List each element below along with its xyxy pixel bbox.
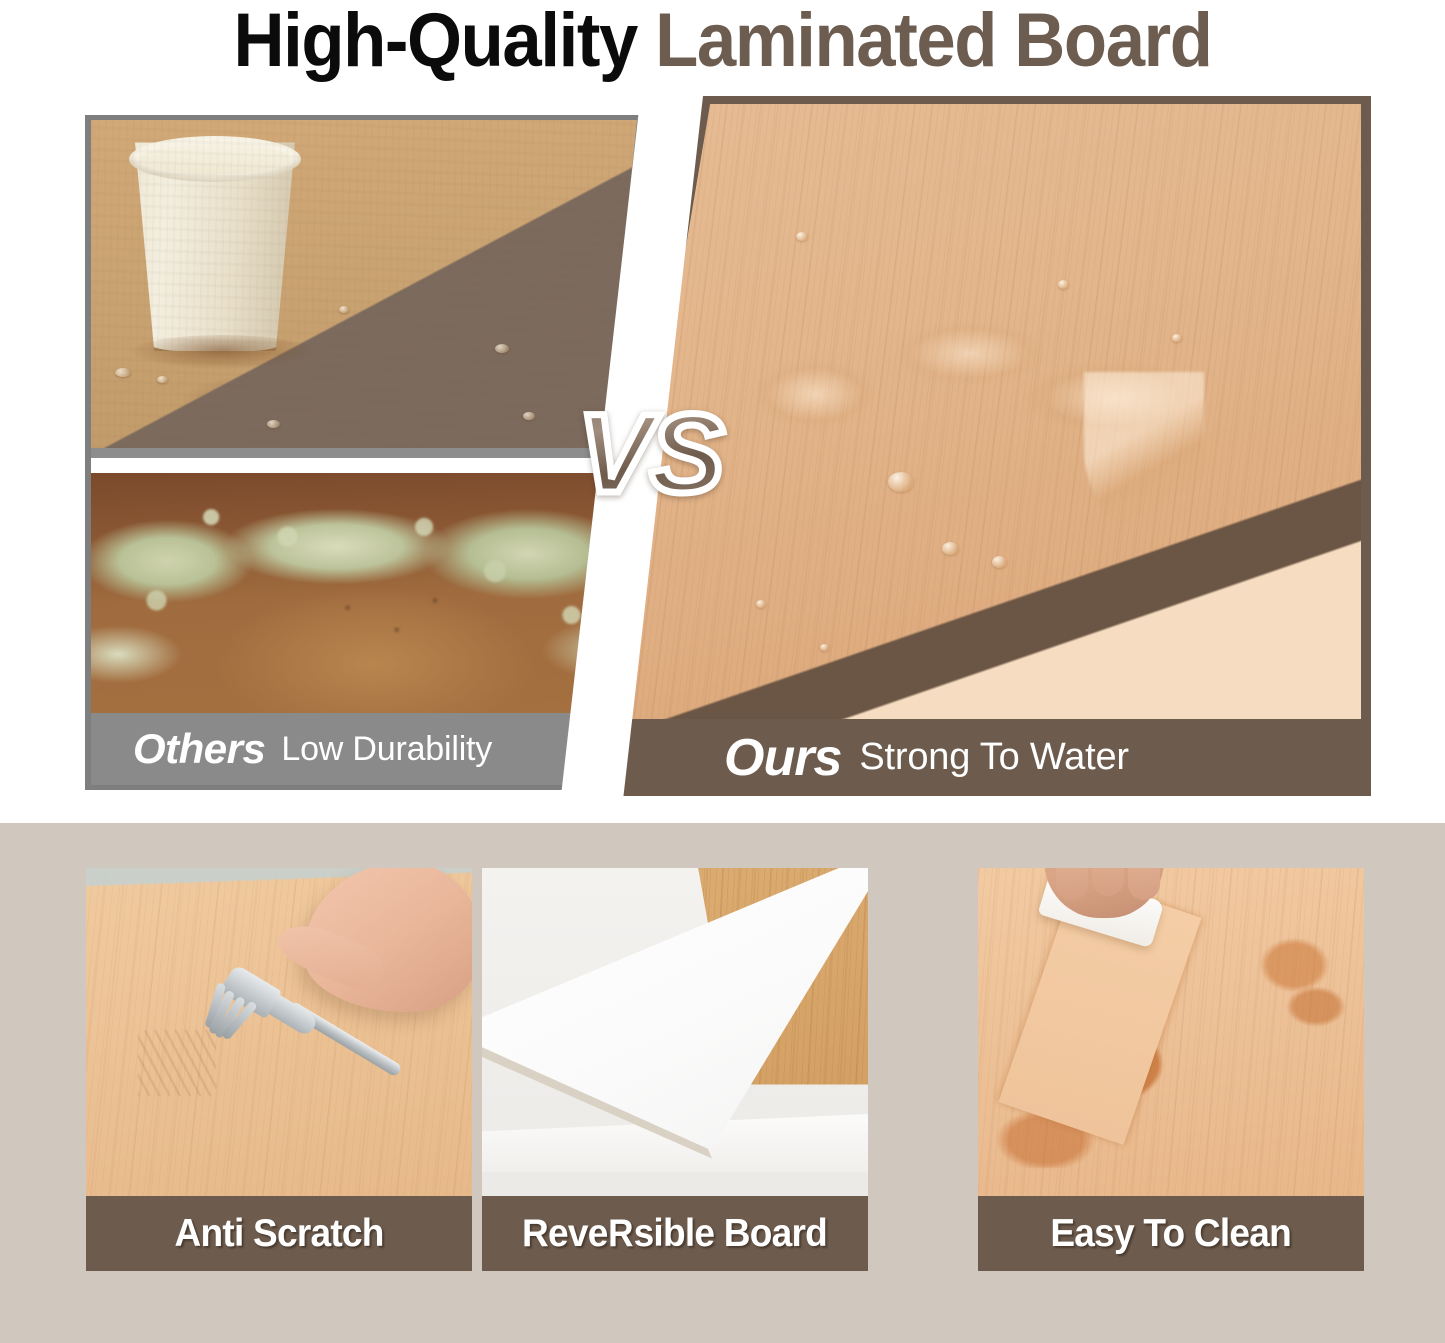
photo-easy-to-clean [978, 868, 1364, 1196]
feature-label-pre: Reve [523, 1212, 609, 1255]
water-bead-icon [992, 556, 1007, 568]
droplet-icon [157, 376, 168, 383]
feature-card-anti-scratch: Anti Scratch [86, 868, 472, 1271]
water-bead-icon [1058, 280, 1069, 289]
water-bead-icon [756, 600, 766, 608]
page-title: High-Quality Laminated Board [51, 0, 1395, 86]
photo-divider [91, 458, 637, 473]
water-bead-icon [888, 472, 914, 492]
water-bead-icon [942, 542, 959, 555]
spill-under-cup [131, 335, 313, 369]
finger [1128, 868, 1160, 900]
feature-card-easy-to-clean: Easy To Clean [978, 868, 1364, 1271]
droplet-icon [495, 344, 509, 353]
water-running-off-edge [1084, 372, 1204, 532]
photo-mold-growth [91, 473, 637, 718]
water-bead-icon [796, 232, 808, 241]
comparison-section: Others Low Durability Ours Strong To Wat… [0, 96, 1445, 796]
scratch-marks [138, 1030, 216, 1096]
others-subtitle: Low Durability [281, 730, 492, 769]
ours-label-bar: Ours Strong To Water [596, 719, 1371, 796]
water-bead-icon [1172, 334, 1182, 342]
ours-title: Ours [724, 728, 841, 788]
others-panel: Others Low Durability [85, 115, 643, 790]
feature-label-bar: Easy To Clean [978, 1196, 1364, 1271]
finger [1056, 868, 1088, 900]
droplet-icon [115, 368, 131, 377]
photo-reversible-board [482, 868, 868, 1196]
feature-label: Anti Scratch [174, 1212, 383, 1256]
feature-card-reversible-board: ReveRsible Board [482, 868, 868, 1271]
vs-badge: VS [578, 398, 721, 510]
droplet-icon [523, 412, 535, 420]
paper-cup [135, 136, 295, 351]
feature-label-bar: Anti Scratch [86, 1196, 472, 1271]
sauce-stain-secondary [1232, 926, 1352, 1056]
photo-paper-cup-spill [91, 120, 637, 448]
feature-label: Easy To Clean [1051, 1212, 1292, 1256]
others-panel-inner: Others Low Durability [91, 120, 637, 785]
feature-label: ReveRsible Board [523, 1212, 828, 1256]
feature-label-bar: ReveRsible Board [482, 1196, 868, 1271]
droplet-icon [267, 420, 280, 428]
feature-label-post: sible Board [634, 1212, 827, 1255]
droplet-icon [339, 306, 349, 313]
title-part-secondary: Laminated Board [655, 0, 1211, 83]
others-title: Others [133, 725, 265, 773]
water-bead-icon [820, 644, 829, 651]
ours-subtitle: Strong To Water [859, 736, 1128, 779]
photo-anti-scratch [86, 868, 472, 1196]
paper-cup-rim [129, 136, 301, 182]
reversed-r-glyph: R [609, 1212, 634, 1256]
features-section: Anti Scratch ReveRsible Board Easy To Cl… [0, 823, 1445, 1343]
title-part-primary: High-Quality [233, 0, 636, 83]
others-label-bar: Others Low Durability [91, 713, 637, 785]
